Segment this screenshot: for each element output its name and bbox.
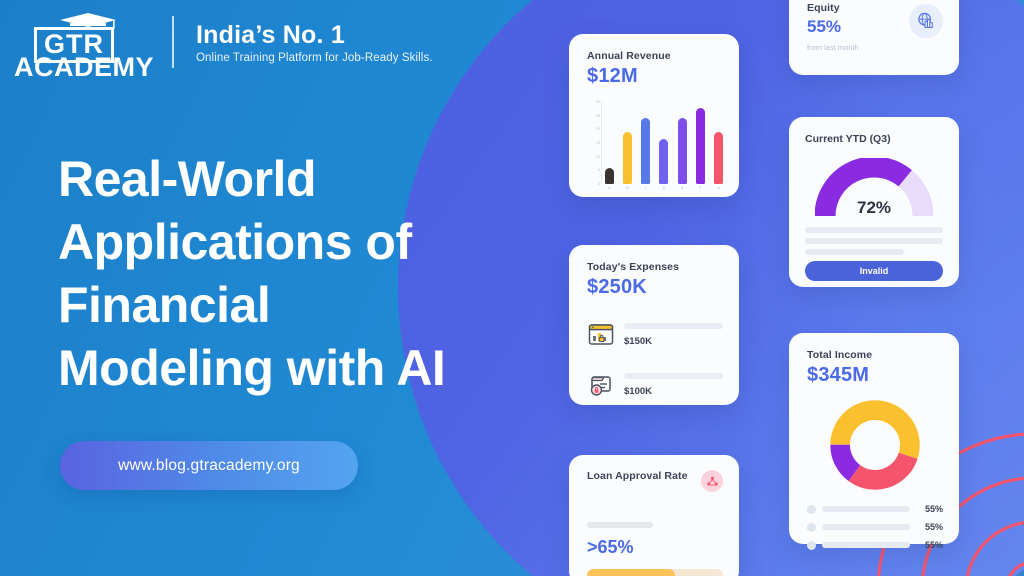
bar-chart-column <box>678 102 687 184</box>
expense-placeholder-bar <box>624 323 723 329</box>
bar-chart-y-tick: 15 <box>596 141 600 145</box>
annual-revenue-bar-chart: 051015202530 ABCDEFG <box>587 102 723 198</box>
header-divider <box>172 16 174 68</box>
total-income-legend-rows: 55%55%55% <box>807 504 943 550</box>
income-legend-row: 55% <box>807 504 943 514</box>
expense-row[interactable]: $150K <box>587 321 723 349</box>
brand-header: GTR ACADEMY India’s No. 1 Online Trainin… <box>14 8 433 76</box>
bar-chart-bar <box>696 108 705 184</box>
bar-chart-bars <box>605 102 723 184</box>
tagline-subtext: Online Training Platform for Job-Ready S… <box>196 52 433 64</box>
bar-chart-column <box>659 102 668 184</box>
income-percent: 55% <box>919 504 943 514</box>
bar-chart-column <box>623 102 632 184</box>
income-placeholder-bar <box>822 542 910 548</box>
bar-chart-y-tick: 20 <box>596 127 600 131</box>
ytd-placeholder-line <box>805 227 943 233</box>
expense-placeholder-bar <box>624 373 723 379</box>
loan-approval-title: Loan Approval Rate <box>587 470 688 482</box>
current-ytd-title: Current YTD (Q3) <box>805 133 943 145</box>
bar-chart-x-tick: E <box>678 186 687 198</box>
equity-value: 55% <box>807 17 859 37</box>
total-income-value: $345M <box>807 364 943 387</box>
annual-revenue-title: Annual Revenue <box>587 50 723 62</box>
annual-revenue-card[interactable]: Annual Revenue $12M 051015202530 ABCDEFG <box>569 34 739 197</box>
headline-line-3: Financial <box>58 274 445 337</box>
bar-chart-x-tick: A <box>605 186 614 198</box>
bar-chart-y-tick: 0 <box>598 182 600 186</box>
loan-approval-value: >65% <box>587 537 723 558</box>
bar-chart-x-labels: ABCDEFG <box>605 186 723 198</box>
check-circle-icon <box>807 523 816 532</box>
network-nodes-icon <box>701 470 723 492</box>
expense-row[interactable]: $100K <box>587 371 723 399</box>
loan-placeholder-bar <box>587 522 653 528</box>
bar-chart-column <box>641 102 650 184</box>
bar-chart-bar <box>623 132 632 184</box>
loan-progress-track <box>587 569 723 576</box>
equity-card[interactable]: Equity 55% from last month <box>789 0 959 75</box>
todays-expenses-title: Today's Expenses <box>587 261 723 273</box>
income-legend-row: 55% <box>807 522 943 532</box>
income-percent: 55% <box>919 522 943 532</box>
bar-chart-y-tick: 25 <box>596 114 600 118</box>
gtr-academy-logo[interactable]: GTR ACADEMY <box>14 9 146 75</box>
total-income-title: Total Income <box>807 349 943 361</box>
globe-chart-icon <box>909 4 943 38</box>
tagline-headline: India’s No. 1 <box>196 21 433 49</box>
ytd-placeholder-lines <box>805 227 943 255</box>
headline-line-1: Real-World <box>58 148 445 211</box>
equity-title: Equity <box>807 2 859 14</box>
bar-chart-bar <box>678 118 687 184</box>
bar-chart-x-tick: D <box>659 186 668 198</box>
todays-expenses-card[interactable]: Today's Expenses $250K $150K <box>569 245 739 405</box>
expense-row-content: $150K <box>624 323 723 347</box>
current-ytd-card[interactable]: Current YTD (Q3) 72% Invalid <box>789 117 959 287</box>
tagline-block: India’s No. 1 Online Training Platform f… <box>196 21 433 64</box>
equity-card-content: Equity 55% from last month <box>807 2 943 52</box>
bar-chart-bar <box>605 168 614 184</box>
check-circle-icon <box>807 505 816 514</box>
page-title: Real-World Applications of Financial Mod… <box>58 148 445 400</box>
document-lock-icon <box>587 371 615 399</box>
loan-approval-rate-card[interactable]: Loan Approval Rate >65% <box>569 455 739 576</box>
ytd-gauge-value: 72% <box>815 198 933 218</box>
bar-chart-x-tick: B <box>623 186 632 198</box>
expense-amount: $100K <box>624 386 723 397</box>
bar-chart-column <box>714 102 723 184</box>
bar-chart-column <box>696 102 705 184</box>
ytd-gauge-chart: 72% <box>815 158 933 218</box>
expense-amount: $150K <box>624 336 723 347</box>
ytd-placeholder-line <box>805 238 943 244</box>
income-percent: 55% <box>919 540 943 550</box>
headline-line-4: Modeling with AI <box>58 337 445 400</box>
income-placeholder-bar <box>822 506 910 512</box>
annual-revenue-value: $12M <box>587 65 723 88</box>
bar-chart-x-tick: F <box>696 186 705 198</box>
loan-card-header: Loan Approval Rate <box>587 470 723 492</box>
logo-academy-text: ACADEMY <box>14 53 154 82</box>
bar-chart-axis-line <box>601 102 602 184</box>
invalid-button[interactable]: Invalid <box>805 261 943 281</box>
income-legend-row: 55% <box>807 540 943 550</box>
bar-chart-bar <box>714 132 723 184</box>
bar-chart-y-tick: 10 <box>596 155 600 159</box>
todays-expenses-value: $250K <box>587 276 723 299</box>
equity-text-block: Equity 55% from last month <box>807 2 859 52</box>
bar-chart-x-tick: C <box>641 186 650 198</box>
equity-subtext: from last month <box>807 43 859 52</box>
chart-window-lock-icon <box>587 321 615 349</box>
total-income-donut-chart <box>829 399 921 491</box>
total-income-card[interactable]: Total Income $345M 55%55%55% <box>789 333 959 544</box>
bar-chart-y-tick: 5 <box>598 168 600 172</box>
bar-chart-y-tick: 30 <box>596 100 600 104</box>
check-circle-icon <box>807 541 816 550</box>
income-placeholder-bar <box>822 524 910 530</box>
bar-chart-x-tick: G <box>714 186 723 198</box>
bar-chart-bar <box>659 139 668 184</box>
expense-row-content: $100K <box>624 373 723 397</box>
bar-chart-bar <box>641 118 650 184</box>
website-url-button[interactable]: www.blog.gtracademy.org <box>60 441 358 490</box>
headline-line-2: Applications of <box>58 211 445 274</box>
bar-chart-column <box>605 102 614 184</box>
ytd-placeholder-line <box>805 249 904 255</box>
loan-progress-fill <box>587 569 675 576</box>
